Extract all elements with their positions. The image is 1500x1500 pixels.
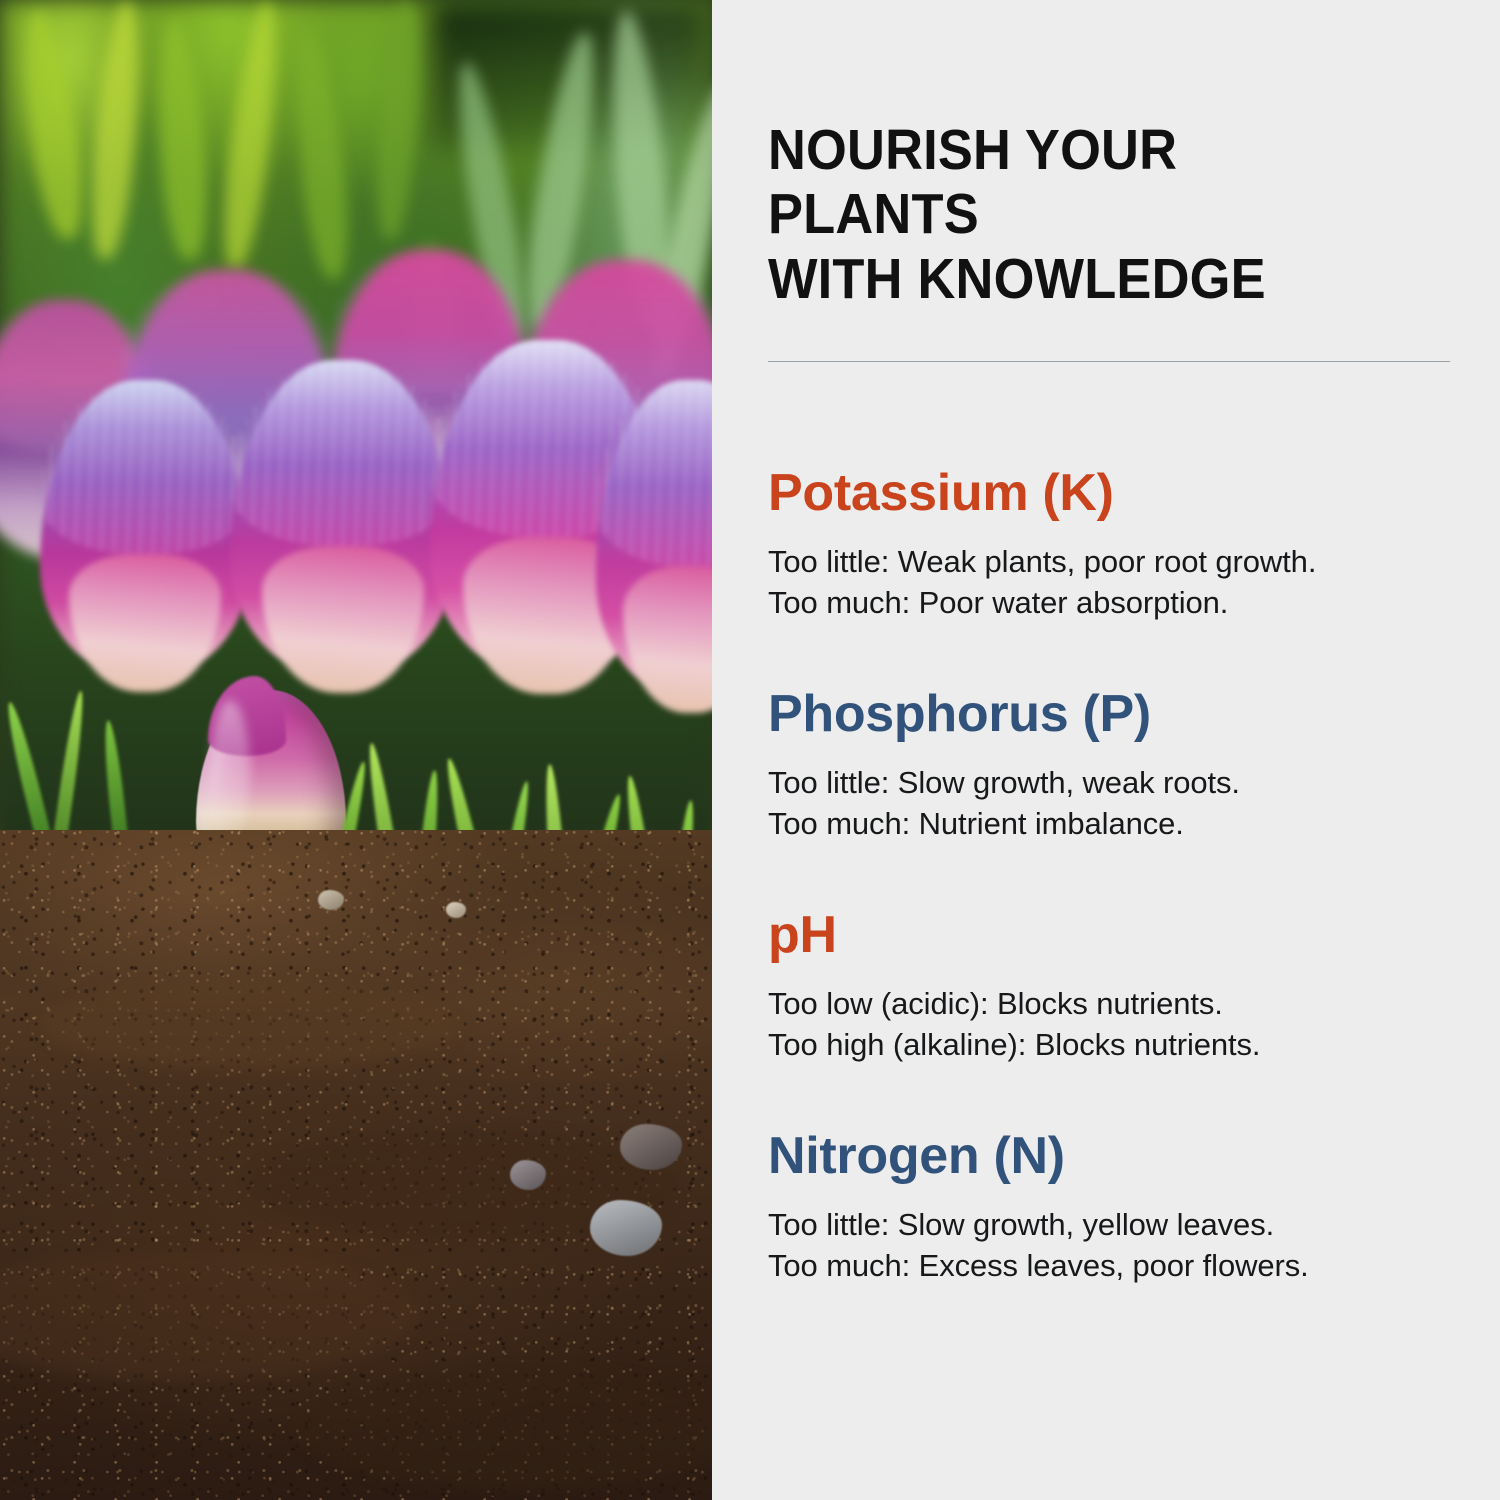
soil-ridge (40, 980, 460, 1070)
section-phosphorus: Phosphorus (P) Too little: Slow growth, … (768, 687, 1450, 844)
page-title: NOURISH YOUR PLANTS WITH KNOWLEDGE (768, 118, 1395, 311)
section-ph: pH Too low (acidic): Blocks nutrients. T… (768, 908, 1450, 1065)
section-title-ph: pH (768, 908, 1450, 963)
section-nitrogen: Nitrogen (N) Too little: Slow growth, ye… (768, 1129, 1450, 1286)
crocus-bloom (230, 360, 455, 680)
bud-highlight (210, 700, 250, 850)
header-divider (768, 361, 1450, 362)
section-title-nitrogen: Nitrogen (N) (768, 1129, 1450, 1184)
section-line-too-high: Too high (alkaline): Blocks nutrients. (768, 1024, 1450, 1065)
section-line-too-low: Too low (acidic): Blocks nutrients. (768, 983, 1450, 1024)
flower-stem-base (69, 554, 220, 692)
content-panel: NOURISH YOUR PLANTS WITH KNOWLEDGE Potas… (712, 0, 1500, 1500)
section-potassium: Potassium (K) Too little: Weak plants, p… (768, 466, 1450, 623)
section-line-too-little: Too little: Slow growth, weak roots. (768, 762, 1450, 803)
section-line-too-much: Too much: Poor water absorption. (768, 582, 1450, 623)
infographic-root: NOURISH YOUR PLANTS WITH KNOWLEDGE Potas… (0, 0, 1500, 1500)
crocus-bloom (40, 380, 250, 680)
section-line-too-little: Too little: Slow growth, yellow leaves. (768, 1204, 1450, 1245)
nutrient-sections: Potassium (K) Too little: Weak plants, p… (768, 466, 1450, 1286)
plant-photo-panel (0, 0, 712, 1500)
flower-stem-base (262, 546, 424, 693)
section-title-phosphorus: Phosphorus (P) (768, 687, 1450, 742)
flower-stem-base (623, 566, 712, 713)
section-line-too-much: Too much: Nutrient imbalance. (768, 803, 1450, 844)
section-title-potassium: Potassium (K) (768, 466, 1450, 521)
section-line-too-much: Too much: Excess leaves, poor flowers. (768, 1245, 1450, 1286)
garden-soil (0, 830, 712, 1500)
section-line-too-little: Too little: Weak plants, poor root growt… (768, 541, 1450, 582)
